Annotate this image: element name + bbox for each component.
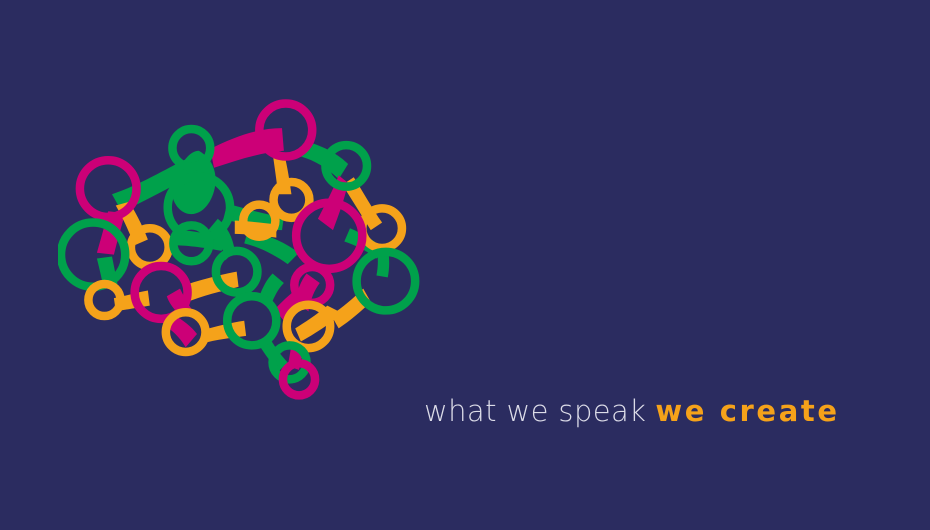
splash-screen: what we speakwe create xyxy=(0,0,930,530)
brain-logo-svg xyxy=(58,96,438,436)
logo-node-orange xyxy=(362,208,402,248)
logo-node-green xyxy=(227,296,276,345)
link-magenta-1 xyxy=(210,128,284,168)
tagline-light-text: what we speak xyxy=(424,394,646,428)
tagline-accent-text: we create xyxy=(655,394,839,428)
brain-network-logo xyxy=(58,96,438,436)
logo-node-green xyxy=(61,223,125,287)
logo-node-orange xyxy=(131,228,169,266)
link-orange-9 xyxy=(331,289,371,329)
brand-tagline: what we speakwe create xyxy=(424,390,844,432)
